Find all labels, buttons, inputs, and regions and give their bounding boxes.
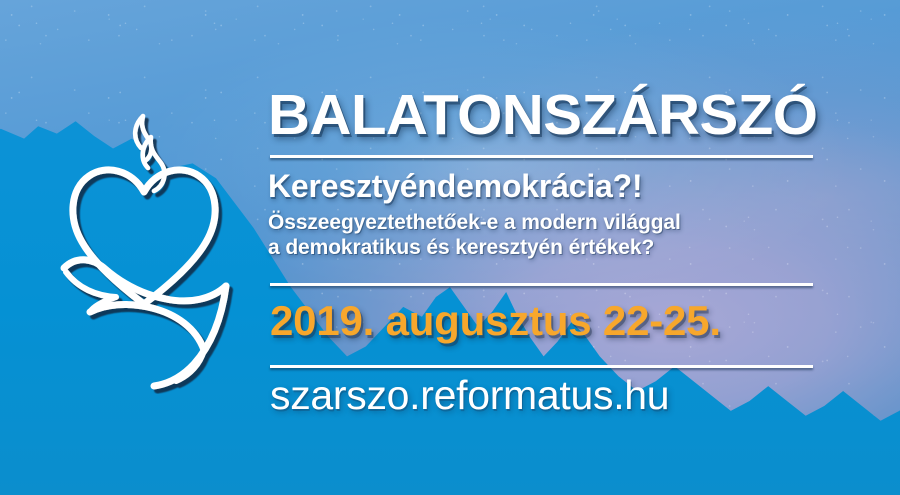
event-date: 2019. augusztus 22-25. <box>270 297 721 345</box>
logo-artwork <box>44 96 244 394</box>
divider-rule-middle <box>270 283 813 286</box>
divider-rule-top <box>270 155 813 158</box>
event-description-line-2: a demokratikus és keresztyén értékek? <box>268 235 681 260</box>
event-description-line-1: Összeegyeztethetőek-e a modern világgal <box>268 210 681 235</box>
event-subtitle: Keresztyéndemokrácia?! <box>268 168 642 204</box>
page-title: BALATONSZÁRSZÓ <box>268 84 817 146</box>
event-description: Összeegyeztethetőek-e a modern világgal … <box>268 210 681 260</box>
event-poster: BALATONSZÁRSZÓ Keresztyéndemokrácia?! Ös… <box>0 0 900 495</box>
heart-flame-hand-logo <box>44 96 244 394</box>
heart-outline <box>73 170 215 304</box>
divider-rule-bottom <box>270 365 813 368</box>
event-website-url[interactable]: szarszo.reformatus.hu <box>270 372 669 419</box>
hand-palm-sweep <box>90 305 204 350</box>
text-block: BALATONSZÁRSZÓ Keresztyéndemokrácia?! Ös… <box>268 0 828 495</box>
hand-upper-contour <box>64 260 226 301</box>
